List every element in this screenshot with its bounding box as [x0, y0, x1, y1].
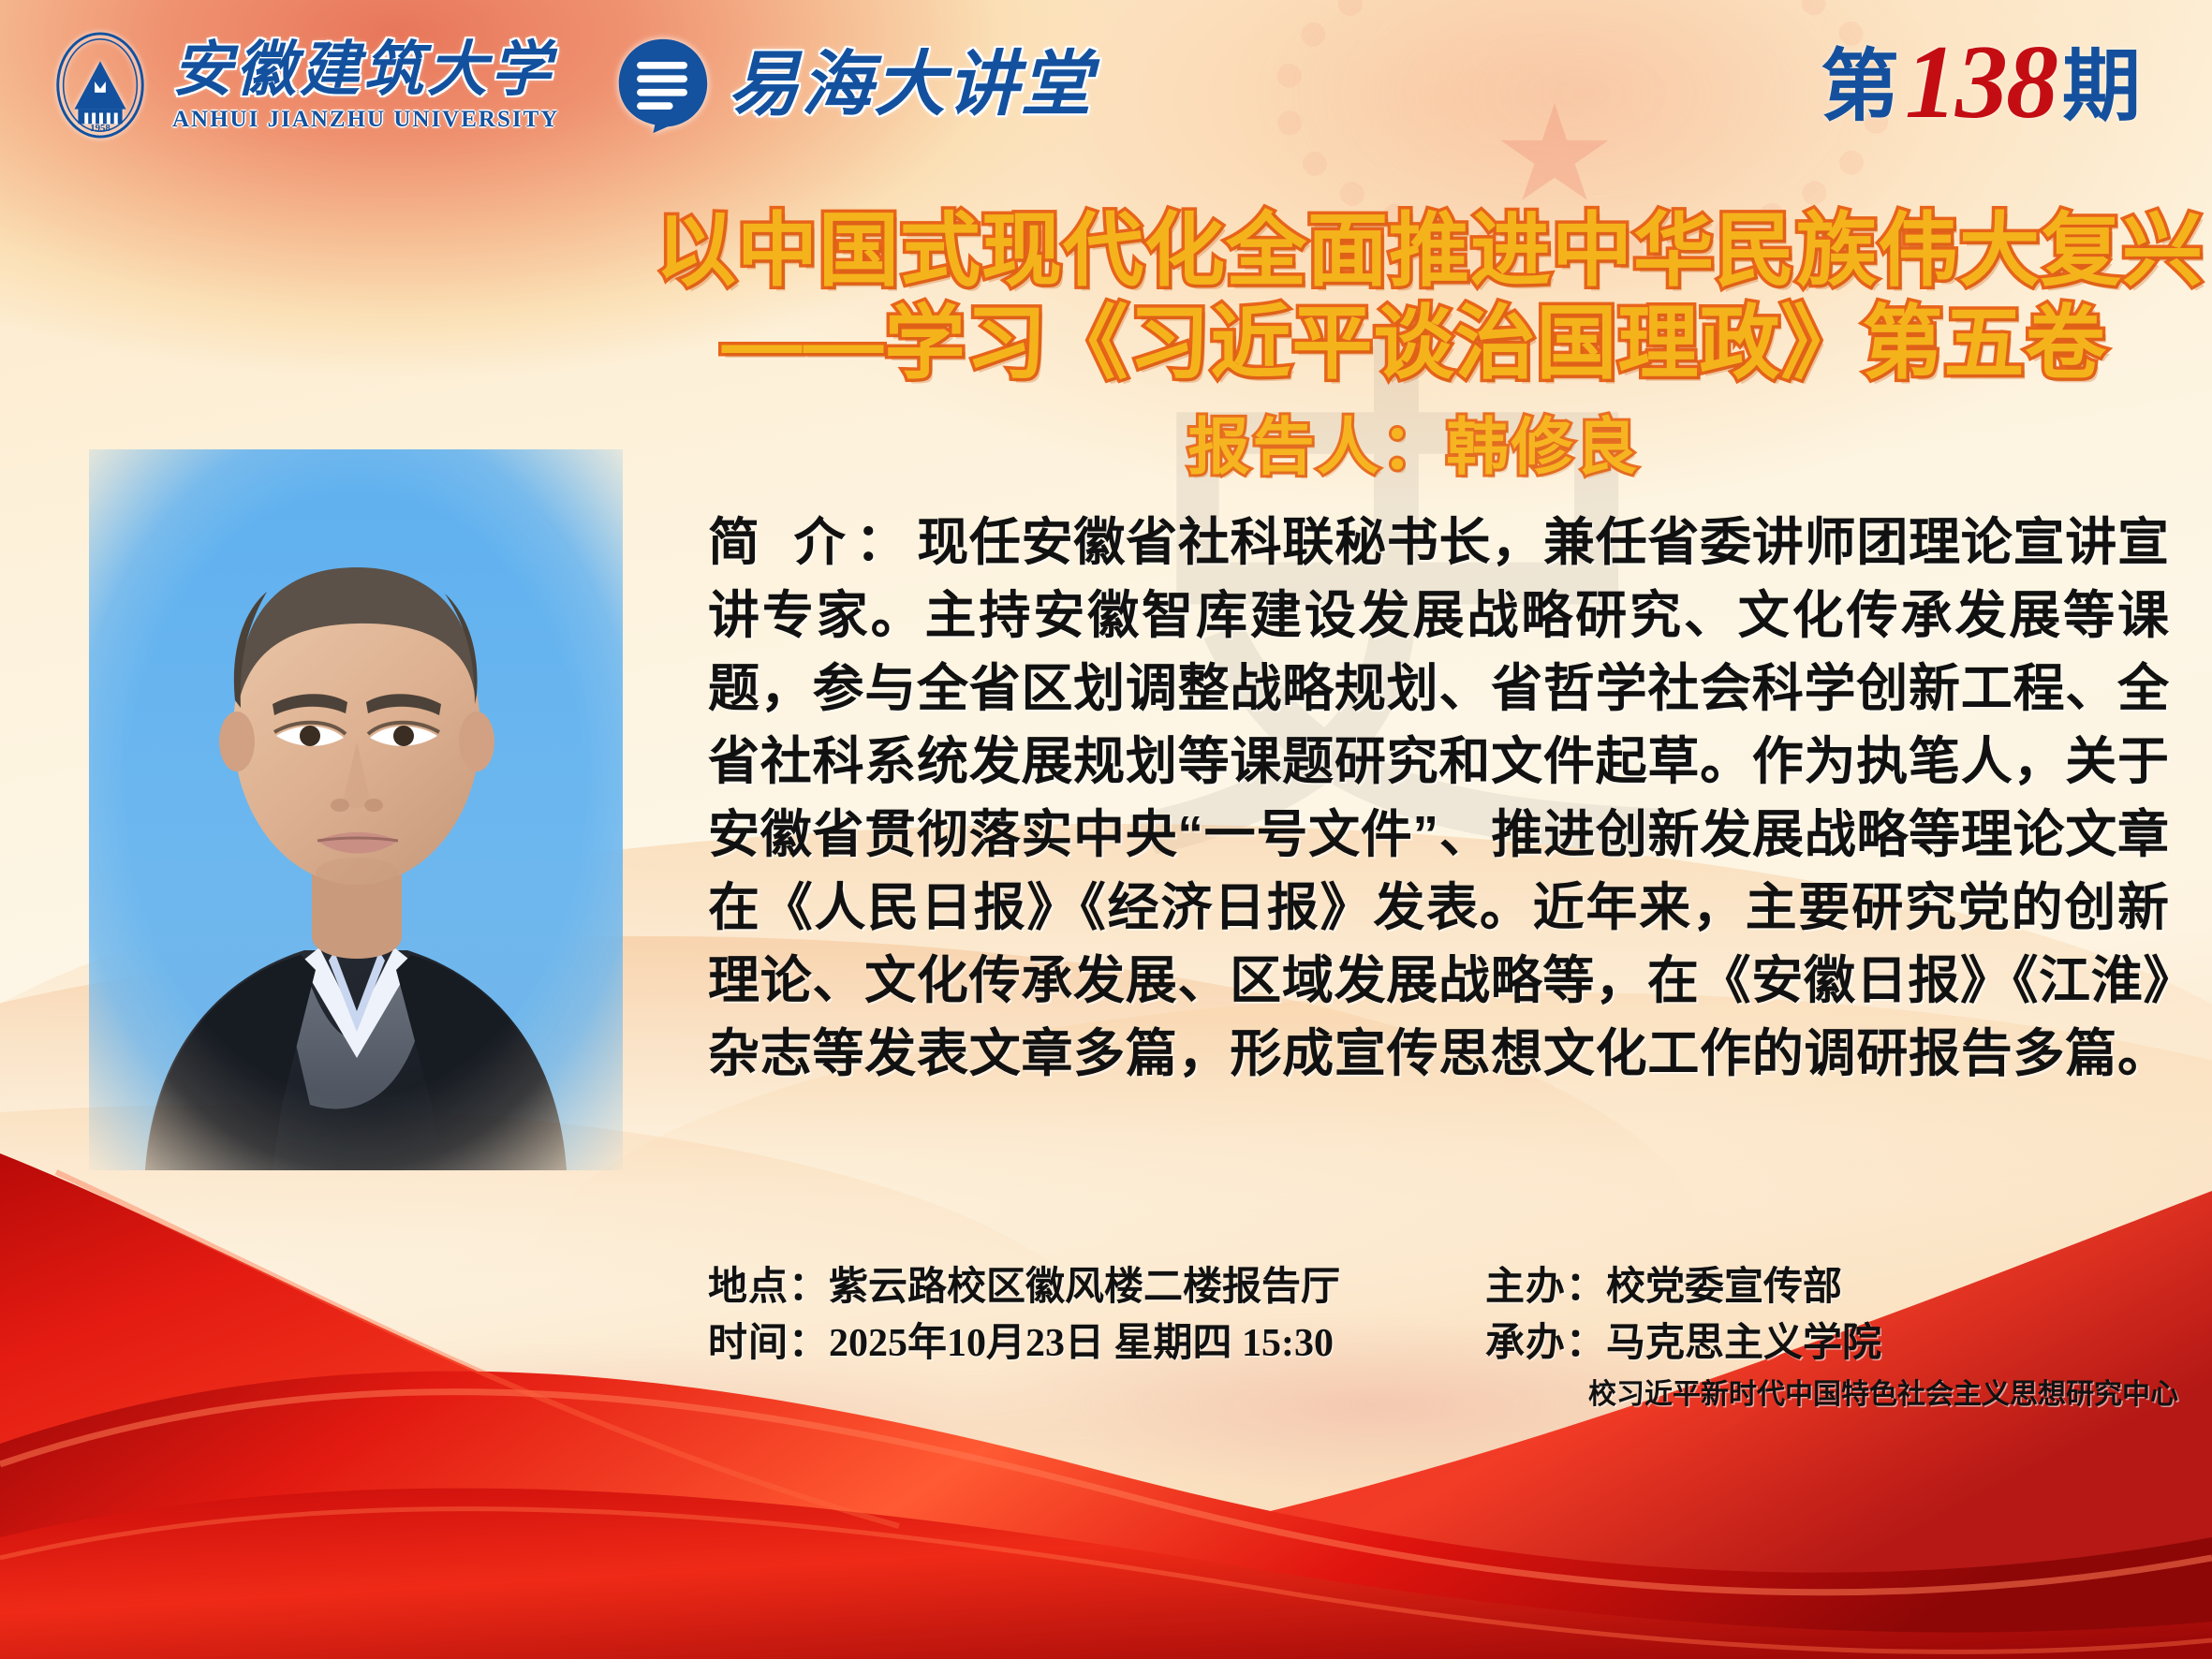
speaker-portrait — [89, 449, 623, 1170]
issue-prefix: 第 — [1821, 49, 1899, 127]
time-label: 时间： — [708, 1322, 829, 1365]
svg-text:1958: 1958 — [90, 123, 111, 134]
venue-label: 地点： — [708, 1266, 829, 1309]
organizer-row: 承办：马克思主义学院 — [1485, 1316, 2141, 1373]
venue-row: 地点：紫云路校区徽风楼二楼报告厅 — [708, 1260, 1420, 1316]
title-block: 以中国式现代化全面推进中华民族伟大复兴 ——学习《习近平谈治国理政》第五卷 报告… — [656, 208, 2173, 487]
issue-number-badge: 第 138 期 — [1821, 26, 2141, 131]
issue-number: 138 — [1905, 30, 2057, 135]
speaker-name-line: 报告人：韩修良 — [656, 397, 2173, 487]
poster-header: 1958 安徽建筑大学 ANHUI JIANZHU UNIVERSITY — [0, 0, 2212, 169]
university-name-cn: 安徽建筑大学 — [172, 40, 559, 100]
event-details-right: 主办：校党委宣传部 承办：马克思主义学院 校习近平新时代中国特色社会主义思想研究… — [1485, 1260, 2141, 1416]
bio-text: 现任安徽省社科联秘书长，兼任省委讲师团理论宣讲宣讲专家。主持安徽智库建设发展战略… — [708, 513, 2169, 1082]
bio-paragraph: 简 介：现任安徽省社科联秘书长，兼任省委讲师团理论宣讲宣讲专家。主持安徽智库建设… — [708, 506, 2169, 1090]
issue-suffix: 期 — [2062, 49, 2141, 127]
organizer-label: 承办： — [1485, 1322, 1606, 1365]
portrait-photo — [89, 449, 623, 1170]
title-line-1: 以中国式现代化全面推进中华民族伟大复兴 — [656, 208, 2173, 295]
event-details-left: 地点：紫云路校区徽风楼二楼报告厅 时间：2025年10月23日 星期四 15:3… — [708, 1260, 1420, 1416]
forum-lockup: 易海大讲堂 — [613, 36, 1093, 135]
organizer-value: 马克思主义学院 — [1606, 1322, 1881, 1365]
speech-bubble-book-icon — [613, 36, 713, 135]
university-seal-icon: 1958 — [45, 30, 155, 140]
host-value: 校党委宣传部 — [1606, 1266, 1842, 1309]
title-line-2: ——学习《习近平谈治国理政》第五卷 — [656, 301, 2173, 388]
forum-name: 易海大讲堂 — [728, 50, 1093, 121]
time-value: 2025年10月23日 星期四 15:30 — [829, 1322, 1334, 1365]
organizer-sub-row: 校习近平新时代中国特色社会主义思想研究中心 — [1485, 1375, 2141, 1416]
poster-canvas: 史 — [0, 0, 2212, 1659]
bio-label: 简 介： — [708, 513, 917, 571]
host-label: 主办： — [1485, 1266, 1606, 1309]
university-name-en: ANHUI JIANZHU UNIVERSITY — [172, 108, 559, 131]
time-row: 时间：2025年10月23日 星期四 15:30 — [708, 1316, 1420, 1373]
venue-value: 紫云路校区徽风楼二楼报告厅 — [829, 1266, 1340, 1309]
event-details: 地点：紫云路校区徽风楼二楼报告厅 时间：2025年10月23日 星期四 15:3… — [708, 1260, 2178, 1416]
brand-lockup: 1958 安徽建筑大学 ANHUI JIANZHU UNIVERSITY — [45, 30, 1093, 140]
university-name-block: 安徽建筑大学 ANHUI JIANZHU UNIVERSITY — [172, 40, 559, 131]
host-row: 主办：校党委宣传部 — [1485, 1260, 2141, 1316]
speaker-bio: 简 介：现任安徽省社科联秘书长，兼任省委讲师团理论宣讲宣讲专家。主持安徽智库建设… — [708, 506, 2169, 1090]
